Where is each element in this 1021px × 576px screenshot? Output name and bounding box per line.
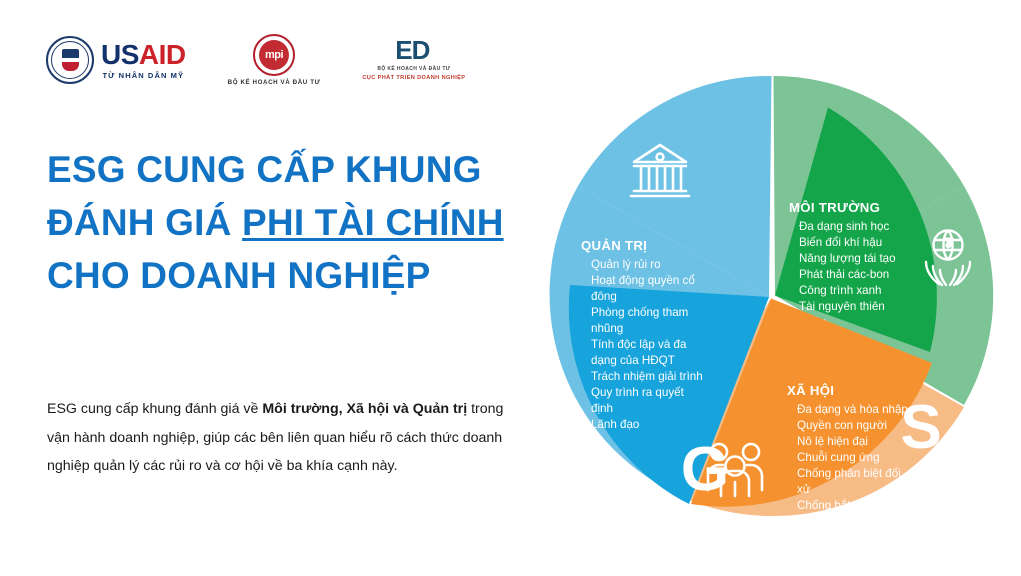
social-title: XÃ HỘI <box>787 383 834 398</box>
environment-title: MÔI TRƯỜNG <box>789 200 880 215</box>
governance-item: định <box>591 402 613 415</box>
mpi-logo: mpi BỘ KẾ HOẠCH VÀ ĐẦU TƯ <box>228 34 321 86</box>
usaid-seal-icon <box>46 36 94 84</box>
aed-caption-line2: CỤC PHÁT TRIỂN DOANH NGHIỆP <box>362 75 465 81</box>
governance-item: nhũng <box>591 322 623 335</box>
mpi-caption: BỘ KẾ HOẠCH VÀ ĐẦU TƯ <box>228 79 321 86</box>
environment-item: Tài nguyên thiên <box>799 300 885 313</box>
social-item: bản địa <box>797 547 836 560</box>
social-item: Di sản văn hóa, người <box>797 531 912 544</box>
social-item: An toàn và Sức khỏe <box>797 563 905 576</box>
governance-item: Quản lý rủi ro <box>591 258 661 271</box>
social-item: Nô lệ hiện đại <box>797 435 868 448</box>
social-item: Chuỗi cung ứng <box>797 451 880 464</box>
usaid-wordmark: USAID TỪ NHÂN DÂN MỸ <box>101 41 186 80</box>
social-item: Chống bắt nạt và <box>797 499 886 512</box>
usaid-shield-icon <box>62 49 79 71</box>
governance-item: Phòng chống tham <box>591 306 688 319</box>
environment-item: Phát thải các-bon <box>799 268 889 281</box>
aed-wordmark: ED <box>398 39 429 63</box>
intro-paragraph: ESG cung cấp khung đánh giá về Môi trườn… <box>47 395 515 480</box>
environment-item: Biến đổi khí hậu <box>799 236 882 249</box>
social-item: Chống phân biệt đối <box>797 467 901 480</box>
aed-ed-text: ED <box>395 39 429 63</box>
usaid-tagline: TỪ NHÂN DÂN MỸ <box>101 72 186 80</box>
environment-item: Đa dạng sinh học <box>799 220 889 233</box>
social-item: Quyền con người <box>797 419 887 432</box>
aed-logo: ED BỘ KẾ HOẠCH VÀ ĐẦU TƯ CỤC PHÁT TRIỂN … <box>362 39 465 81</box>
page-title: ESG CUNG CẤP KHUNG ĐÁNH GIÁ PHI TÀI CHÍN… <box>47 143 547 303</box>
governance-item: Quy trình ra quyết <box>591 386 685 399</box>
intro-bold: Môi trường, Xã hội và Quản trị <box>262 401 467 417</box>
governance-item: dạng của HĐQT <box>591 354 675 367</box>
governance-letter: G <box>681 435 729 504</box>
governance-item: Trách nhiệm giải trình <box>591 370 703 383</box>
governance-item: Hoạt động quyền cổ <box>591 274 695 287</box>
mpi-seal-icon: mpi <box>253 34 295 76</box>
social-item: Đa dạng và hòa nhập <box>797 403 908 416</box>
esg-wheel-diagram: E MÔI TRƯỜNG Đa dạng sinh học Biến đổi k… <box>545 70 997 522</box>
usaid-logo: USAID TỪ NHÂN DÂN MỸ <box>46 36 186 84</box>
governance-item: Lãnh đạo <box>591 418 639 431</box>
social-item: quấy rối <box>797 515 838 528</box>
aed-caption-line1: BỘ KẾ HOẠCH VÀ ĐẦU TƯ <box>377 66 450 72</box>
governance-title: QUẢN TRỊ <box>581 238 647 253</box>
usaid-aid-text: AID <box>139 39 186 70</box>
social-item: xử <box>797 483 811 496</box>
environment-item: Công trình xanh <box>799 284 882 297</box>
headline-part-2: CHO DOANH NGHIỆP <box>47 255 431 296</box>
usaid-us-text: US <box>101 39 139 70</box>
governance-item: Tính độc lập và đa <box>591 338 687 351</box>
environment-item: Năng lượng tái tạo <box>799 252 896 265</box>
headline-underlined: PHI TÀI CHÍNH <box>242 202 504 243</box>
intro-text-1: ESG cung cấp khung đánh giá về <box>47 401 262 417</box>
mpi-mark-text: mpi <box>265 49 283 61</box>
partner-logo-bar: USAID TỪ NHÂN DÂN MỸ mpi BỘ KẾ HOẠCH VÀ … <box>46 32 465 88</box>
governance-item: đông <box>591 290 617 303</box>
